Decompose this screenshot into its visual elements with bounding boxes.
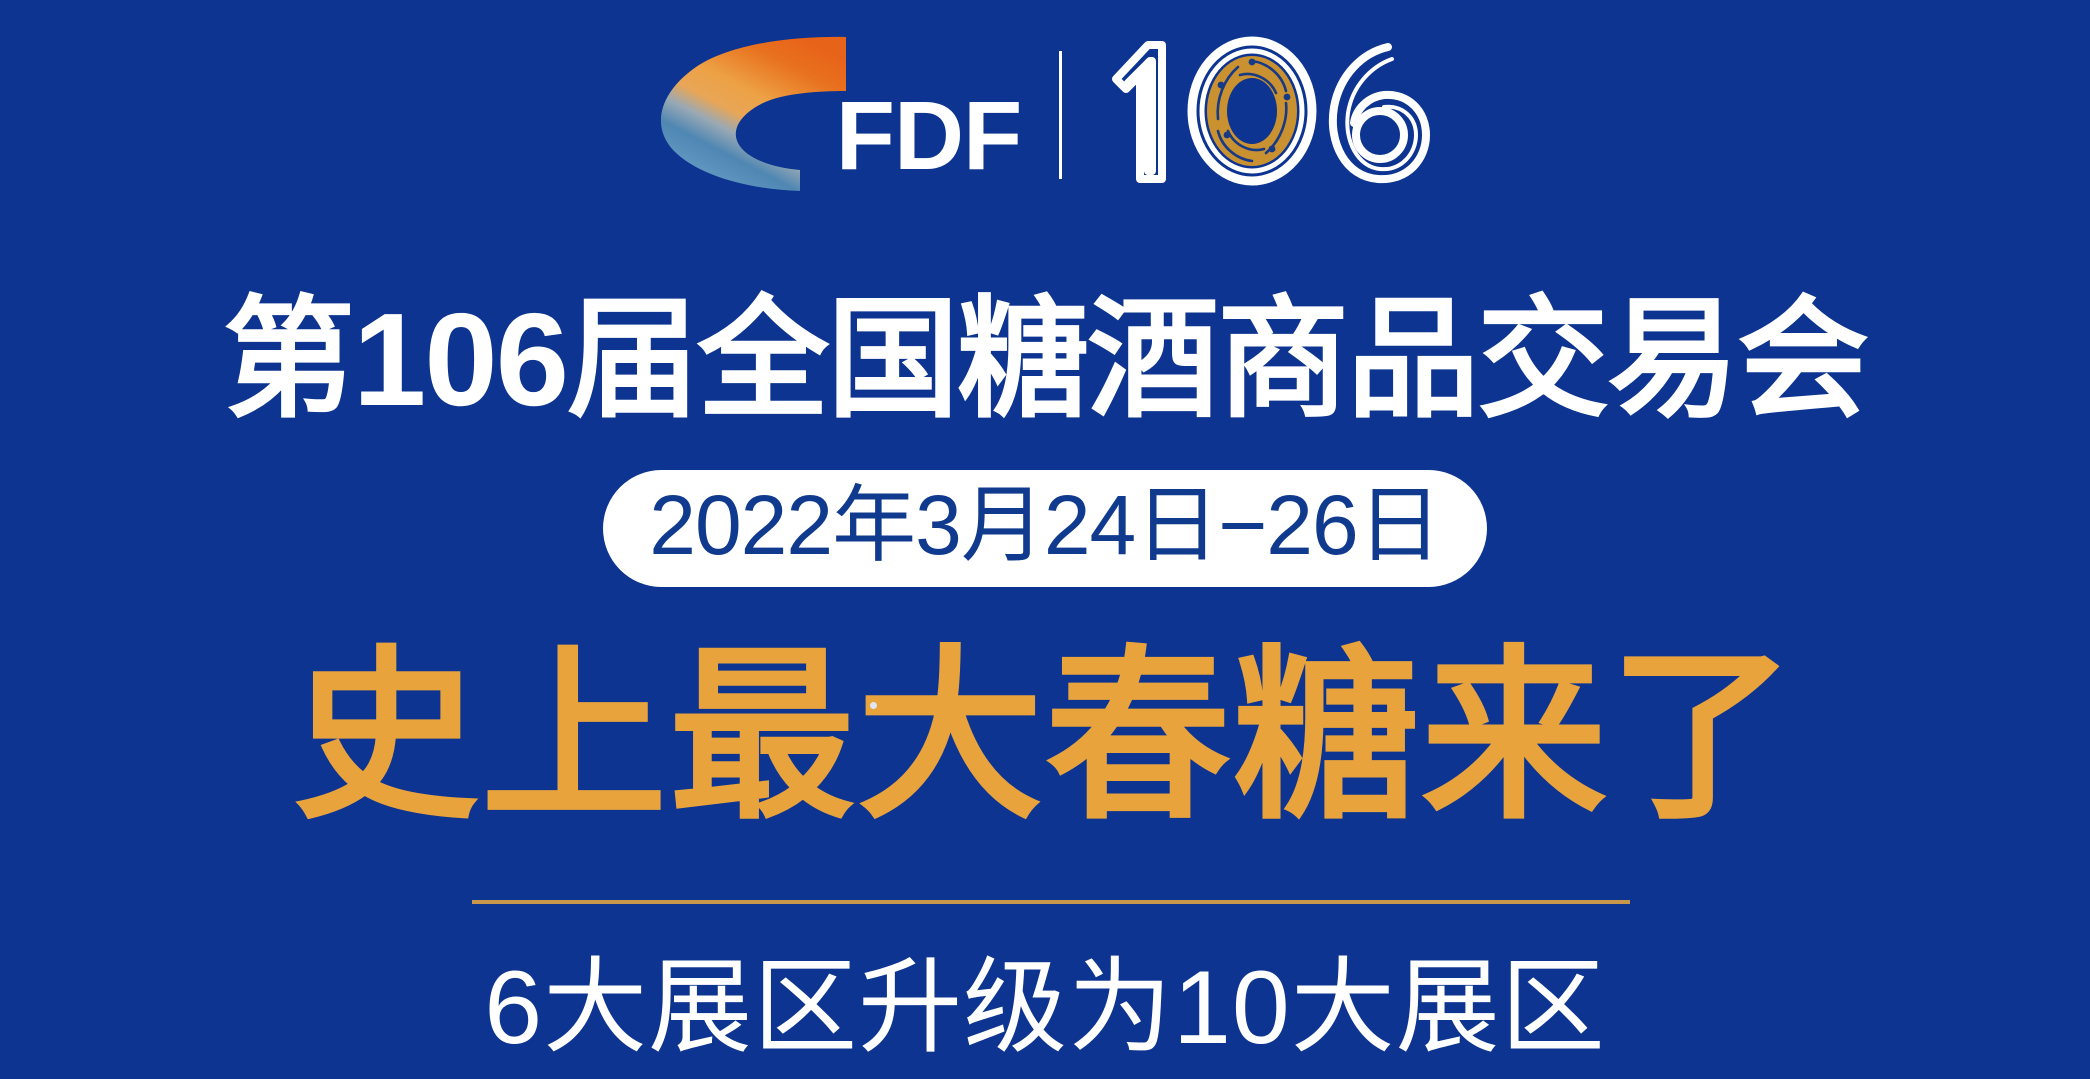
fdf-swoosh-icon: [650, 31, 850, 196]
fdf-logo: FDF: [650, 26, 1022, 196]
zones-subtitle: 6大展区升级为10大展区: [0, 948, 2090, 1069]
edition-106-emblem: [1100, 26, 1440, 196]
gold-headline: 史上最大春糖来了: [0, 638, 2090, 839]
event-title: 第106届全国糖酒商品交易会: [0, 286, 2090, 434]
event-date-badge: 2022年3月24日−26日: [603, 470, 1487, 587]
logo-divider: [1059, 51, 1062, 179]
decorative-speck: [870, 702, 877, 709]
poster-root: FDF: [0, 0, 2090, 1079]
logo-band: FDF: [0, 26, 2090, 196]
gold-divider-rule: [472, 900, 1630, 904]
date-pill-row: 2022年3月24日−26日: [0, 470, 2090, 587]
fdf-wordmark: FDF: [836, 87, 1022, 184]
